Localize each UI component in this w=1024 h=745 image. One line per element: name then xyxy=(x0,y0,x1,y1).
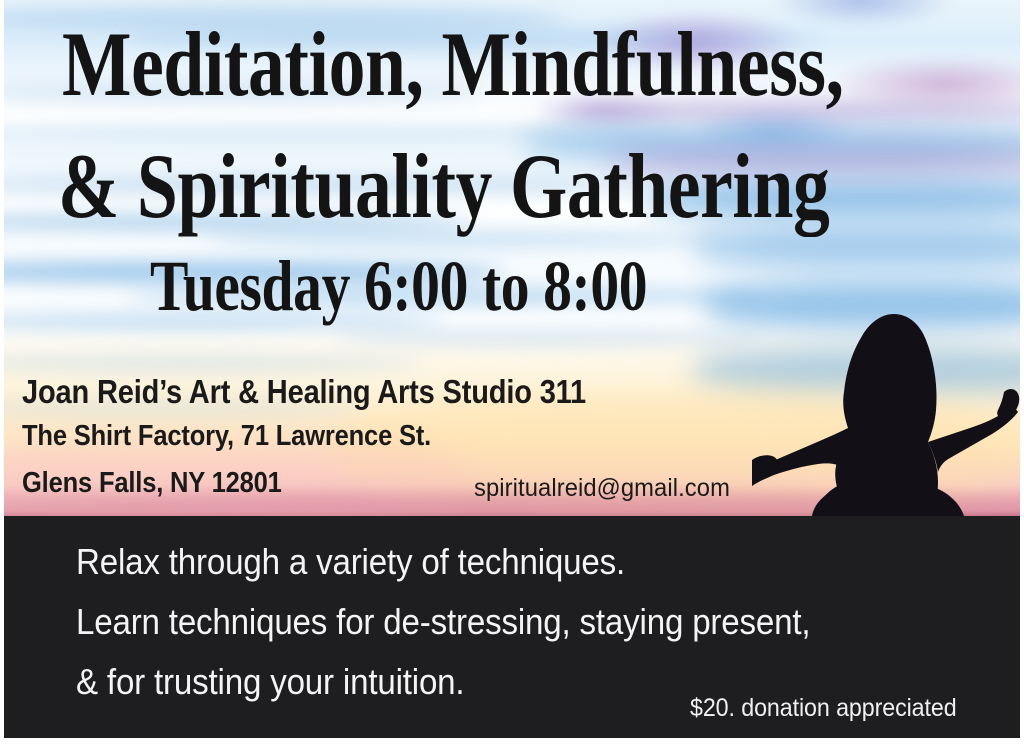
meditating-woman-silhouette xyxy=(752,300,1024,516)
title-line-2: & Spirituality Gathering xyxy=(58,140,829,232)
description-line-3: & for trusting your intuition. xyxy=(76,661,464,703)
cloud-streak xyxy=(334,330,764,344)
address-line-1: The Shirt Factory, 71 Lawrence St. xyxy=(22,420,431,453)
description-line-2: Learn techniques for de-stressing, stayi… xyxy=(76,601,810,643)
cloud-streak xyxy=(4,356,424,370)
title-line-1: Meditation, Mindfulness, xyxy=(62,18,844,110)
flyer-poster: Meditation, Mindfulness, & Spirituality … xyxy=(0,0,1024,745)
donation-note: $20. donation appreciated xyxy=(690,694,957,723)
schedule-line: Tuesday 6:00 to 8:00 xyxy=(150,250,647,322)
description-line-1: Relax through a variety of techniques. xyxy=(76,541,625,583)
bottom-margin xyxy=(0,738,1024,745)
contact-email[interactable]: spiritualreid@gmail.com xyxy=(474,474,730,503)
venue-name: Joan Reid’s Art & Healing Arts Studio 31… xyxy=(22,373,586,411)
right-margin xyxy=(1020,0,1024,745)
address-line-2: Glens Falls, NY 12801 xyxy=(22,467,282,500)
left-margin xyxy=(0,0,4,745)
